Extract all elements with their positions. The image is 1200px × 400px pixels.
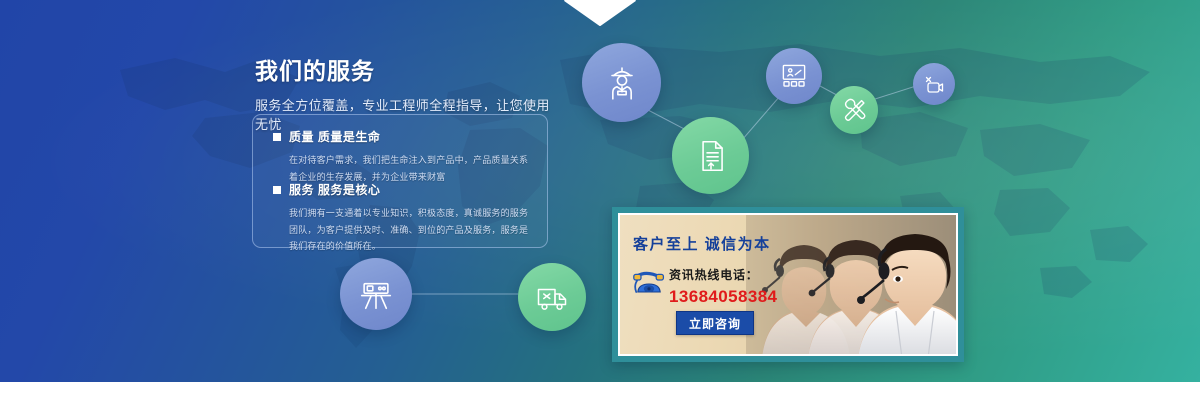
- feature-title-row: 服务 服务是核心: [273, 181, 529, 198]
- feature-description: 我们拥有一支通着以专业知识，积极态度，真诚服务的服务团队，为客户提供及时、准确、…: [289, 205, 529, 255]
- service-node-document[interactable]: [672, 117, 749, 194]
- card-slogan: 客户至上 诚信为本: [633, 233, 818, 254]
- installation-icon: [922, 72, 946, 96]
- feature-title-row: 质量 质量是生命: [273, 128, 529, 145]
- hotline-label: 资讯热线电话：: [669, 268, 759, 282]
- feature-list-box: 质量 质量是生命 在对待客户需求，我们把生命注入到产品中，产品质量关系着企业的生…: [252, 114, 548, 248]
- training-icon: [779, 61, 809, 91]
- service-node-delivery[interactable]: [518, 263, 586, 331]
- service-node-installation[interactable]: [913, 63, 955, 105]
- hotline-lines: 资讯热线电话： 13684058384: [669, 265, 777, 307]
- page-title: 我们的服务: [255, 58, 555, 86]
- feature-title: 质量 质量是生命: [289, 128, 380, 145]
- contact-card: 客户至上 诚信为本: [612, 207, 964, 362]
- contact-card-inner: 客户至上 诚信为本: [618, 213, 958, 356]
- survey-icon: [357, 275, 395, 313]
- document-icon: [692, 137, 730, 175]
- tools-icon: [840, 96, 868, 124]
- consult-now-button[interactable]: 立即咨询: [676, 311, 754, 335]
- telephone-icon: [633, 271, 665, 297]
- square-bullet-icon: [273, 133, 281, 141]
- hotline-number: 13684058384: [669, 287, 777, 307]
- contact-card-text: 客户至上 诚信为本: [633, 233, 818, 307]
- feature-title: 服务 服务是核心: [289, 181, 380, 198]
- feature-item-quality: 质量 质量是生命 在对待客户需求，我们把生命注入到产品中，产品质量关系着企业的生…: [273, 128, 529, 185]
- hotline-row: 资讯热线电话： 13684058384: [633, 265, 818, 307]
- service-node-engineer[interactable]: [582, 43, 661, 122]
- service-node-tools[interactable]: [830, 86, 878, 134]
- engineer-icon: [602, 63, 642, 103]
- banner-background: 我们的服务 服务全方位覆盖，专业工程师全程指导，让您使用无忧 质量 质量是生命 …: [0, 0, 1200, 382]
- square-bullet-icon: [273, 186, 281, 194]
- feature-item-service: 服务 服务是核心 我们拥有一支通着以专业知识，积极态度，真诚服务的服务团队，为客…: [273, 181, 529, 255]
- service-node-survey[interactable]: [340, 258, 412, 330]
- service-banner-page: 我们的服务 服务全方位覆盖，专业工程师全程指导，让您使用无忧 质量 质量是生命 …: [0, 0, 1200, 400]
- service-node-training[interactable]: [766, 48, 822, 104]
- delivery-truck-icon: [534, 279, 570, 315]
